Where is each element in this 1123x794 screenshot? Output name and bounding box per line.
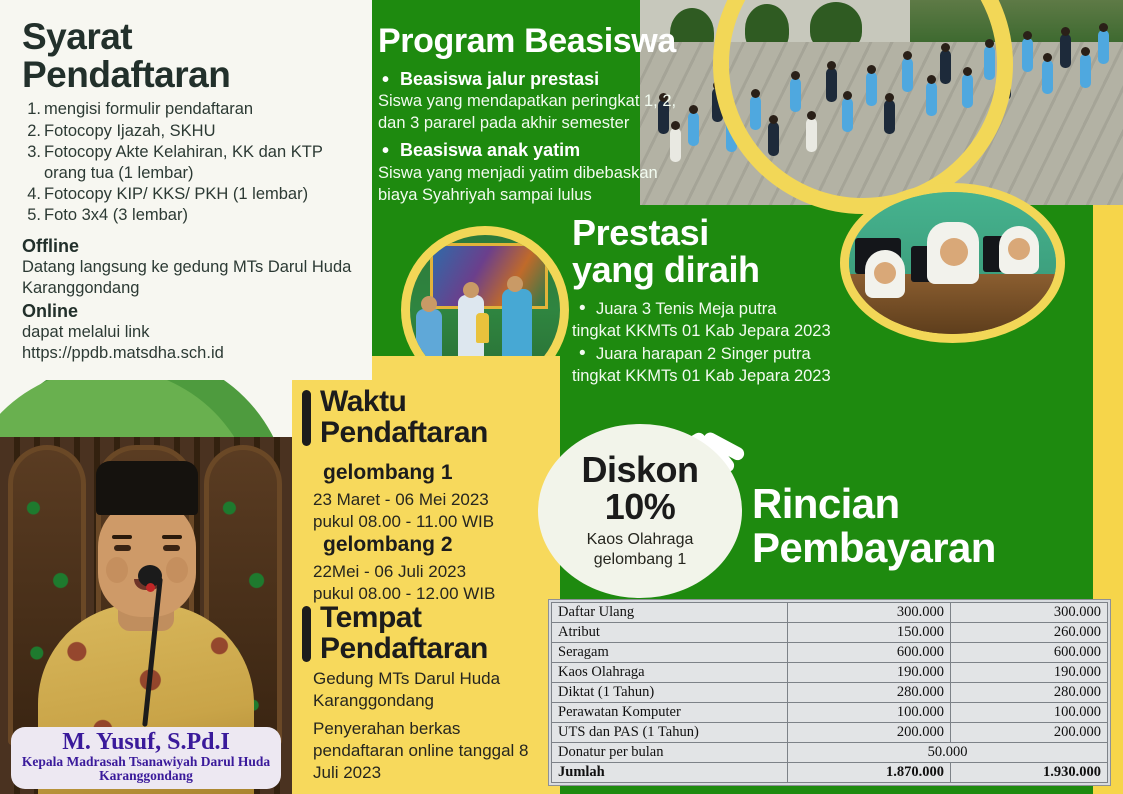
registration-link[interactable]: https://ppdb.matsdha.sch.id (22, 343, 356, 364)
online-text: dapat melalui link (22, 322, 356, 343)
headmaster-name: M. Yusuf, S.Pd.I (15, 730, 277, 755)
row-value-2: 190.000 (951, 663, 1108, 683)
row-label: Atribut (552, 623, 788, 643)
donatur-value: 50.000 (788, 743, 1108, 763)
requirements-panel: Syarat Pendaftaran 1. mengisi formulir p… (0, 0, 372, 380)
list-item: 1. mengisi formulir pendaftaran (22, 99, 356, 120)
wave-2-name: gelombang 2 (323, 533, 453, 557)
scholarship-item-desc: biaya Syahriyah sampai lulus (378, 185, 718, 207)
item-number: 2. (22, 121, 41, 142)
wave-1-hours: pukul 08.00 - 11.00 WIB (313, 511, 563, 533)
discount-sub2: gelombang 1 (594, 550, 687, 570)
scholarship-item-heading: Beasiswa jalur prestasi (400, 68, 718, 91)
schedule-title-line1: Waktu (320, 386, 550, 417)
discount-sub1: Kaos Olahraga (587, 530, 694, 550)
poster-root: M. Yusuf, S.Pd.I Kepala Madrasah Tsanawi… (0, 0, 1123, 794)
row-value-2: 300.000 (951, 603, 1108, 623)
achievements-title-line2: yang diraih (572, 251, 902, 288)
discount-badge: Diskon 10% Kaos Olahraga gelombang 1 (538, 424, 742, 598)
scholarship-item-heading: Beasiswa anak yatim (400, 139, 718, 162)
headmaster-face (98, 499, 196, 617)
photo-headmaster: M. Yusuf, S.Pd.I Kepala Madrasah Tsanawi… (0, 437, 292, 794)
item-text: Fotocopy KIP/ KKS/ PKH (1 lembar) (44, 184, 356, 205)
venue-note: Penyerahan berkas pendaftaran online tan… (313, 718, 553, 784)
row-label: UTS dan PAS (1 Tahun) (552, 723, 788, 743)
payment-table-wrapper: Daftar Ulang 300.000 300.000 Atribut 150… (548, 599, 1111, 786)
peci-hat (96, 461, 198, 515)
headmaster-title-line1: Kepala Madrasah Tsanawiyah Darul Huda (15, 755, 277, 770)
table-row: Daftar Ulang 300.000 300.000 (552, 603, 1108, 623)
accent-bar (302, 606, 311, 662)
item-text: Foto 3x4 (3 lembar) (44, 205, 356, 226)
scholarship-item-desc: Siswa yang menjadi yatim dibebaskan (378, 163, 718, 185)
list-item: 4. Fotocopy KIP/ KKS/ PKH (1 lembar) (22, 184, 356, 205)
donatur-label: Donatur per bulan (552, 743, 788, 763)
list-item: 5. Foto 3x4 (3 lembar) (22, 205, 356, 226)
table-row: Seragam 600.000 600.000 (552, 643, 1108, 663)
item-text: Fotocopy Ijazah, SKHU (44, 121, 356, 142)
total-label: Jumlah (552, 763, 788, 783)
row-value-1: 600.000 (788, 643, 951, 663)
row-label: Seragam (552, 643, 788, 663)
discount-line1: Diskon (581, 452, 698, 488)
discount-line2: 10% (605, 488, 676, 526)
headmaster-name-plate: M. Yusuf, S.Pd.I Kepala Madrasah Tsanawi… (11, 727, 281, 789)
row-value-1: 190.000 (788, 663, 951, 683)
item-number: 4. (22, 184, 41, 205)
venue-title-line1: Tempat (320, 602, 550, 633)
venue-title: Tempat Pendaftaran (320, 602, 550, 664)
accent-bar (302, 390, 311, 446)
requirements-title-line2: Pendaftaran (22, 56, 356, 94)
row-label: Perawatan Komputer (552, 703, 788, 723)
table-row-donatur: Donatur per bulan 50.000 (552, 743, 1108, 763)
table-row: Kaos Olahraga 190.000 190.000 (552, 663, 1108, 683)
row-label: Kaos Olahraga (552, 663, 788, 683)
achievements-title-line1: Prestasi (572, 214, 902, 251)
wave-1-dates: 23 Maret - 06 Mei 2023 (313, 489, 563, 511)
list-item: 2. Fotocopy Ijazah, SKHU (22, 121, 356, 142)
trophy-icon (476, 313, 489, 343)
item-number: 3. (22, 142, 41, 184)
payment-title: Rincian Pembayaran (752, 482, 1112, 569)
requirements-title-line1: Syarat (22, 18, 356, 56)
offline-label: Offline (22, 236, 356, 257)
item-number: 5. (22, 205, 41, 226)
scholarship-item-desc: dan 3 pararel pada akhir semester (378, 113, 718, 135)
schedule-title: Waktu Pendaftaran (320, 386, 550, 448)
row-value-1: 150.000 (788, 623, 951, 643)
list-item: 3. Fotocopy Akte Kelahiran, KK dan KTP o… (22, 142, 356, 184)
row-value-2: 100.000 (951, 703, 1108, 723)
achievement-item: Juara 3 Tenis Meja putra (596, 298, 892, 320)
item-text: mengisi formulir pendaftaran (44, 99, 356, 120)
achievements-title: Prestasi yang diraih (572, 214, 902, 288)
payment-title-line1: Rincian (752, 482, 1112, 526)
row-value-2: 280.000 (951, 683, 1108, 703)
row-value-2: 260.000 (951, 623, 1108, 643)
row-value-2: 600.000 (951, 643, 1108, 663)
achievement-detail: tingkat KKMTs 01 Kab Jepara 2023 (572, 320, 892, 342)
schedule-title-line2: Pendaftaran (320, 417, 550, 448)
wave-2-dates: 22Mei - 06 Juli 2023 (313, 561, 563, 583)
scholarship-title: Program Beasiswa (378, 22, 778, 61)
item-text: Fotocopy Akte Kelahiran, KK dan KTP oran… (44, 142, 356, 184)
row-label: Daftar Ulang (552, 603, 788, 623)
scholarship-body: Beasiswa jalur prestasi Siswa yang menda… (378, 68, 718, 207)
payment-table: Daftar Ulang 300.000 300.000 Atribut 150… (551, 602, 1108, 783)
row-value-1: 300.000 (788, 603, 951, 623)
row-value-2: 200.000 (951, 723, 1108, 743)
table-row-total: Jumlah 1.870.000 1.930.000 (552, 763, 1108, 783)
row-value-1: 200.000 (788, 723, 951, 743)
achievement-detail: tingkat KKMTs 01 Kab Jepara 2023 (572, 365, 892, 387)
scholarship-item-desc: Siswa yang mendapatkan peringkat 1, 2, (378, 91, 718, 113)
table-row: Perawatan Komputer 100.000 100.000 (552, 703, 1108, 723)
table-row: Atribut 150.000 260.000 (552, 623, 1108, 643)
item-number: 1. (22, 99, 41, 120)
row-value-1: 280.000 (788, 683, 951, 703)
requirements-list: 1. mengisi formulir pendaftaran 2. Fotoc… (22, 99, 356, 226)
table-row: UTS dan PAS (1 Tahun) 200.000 200.000 (552, 723, 1108, 743)
payment-title-line2: Pembayaran (752, 526, 1112, 570)
row-value-1: 100.000 (788, 703, 951, 723)
achievements-list: Juara 3 Tenis Meja putra tingkat KKMTs 0… (572, 298, 892, 387)
achievement-item: Juara harapan 2 Singer putra (596, 343, 892, 365)
online-label: Online (22, 301, 356, 322)
venue-title-line2: Pendaftaran (320, 633, 550, 664)
total-value-2: 1.930.000 (951, 763, 1108, 783)
wave-1-name: gelombang 1 (323, 461, 453, 485)
row-label: Diktat (1 Tahun) (552, 683, 788, 703)
venue-address: Gedung MTs Darul Huda Karanggondang (313, 668, 548, 712)
table-row: Diktat (1 Tahun) 280.000 280.000 (552, 683, 1108, 703)
headmaster-title-line2: Karanggondang (15, 769, 277, 784)
total-value-1: 1.870.000 (788, 763, 951, 783)
offline-text: Datang langsung ke gedung MTs Darul Huda… (22, 257, 356, 299)
